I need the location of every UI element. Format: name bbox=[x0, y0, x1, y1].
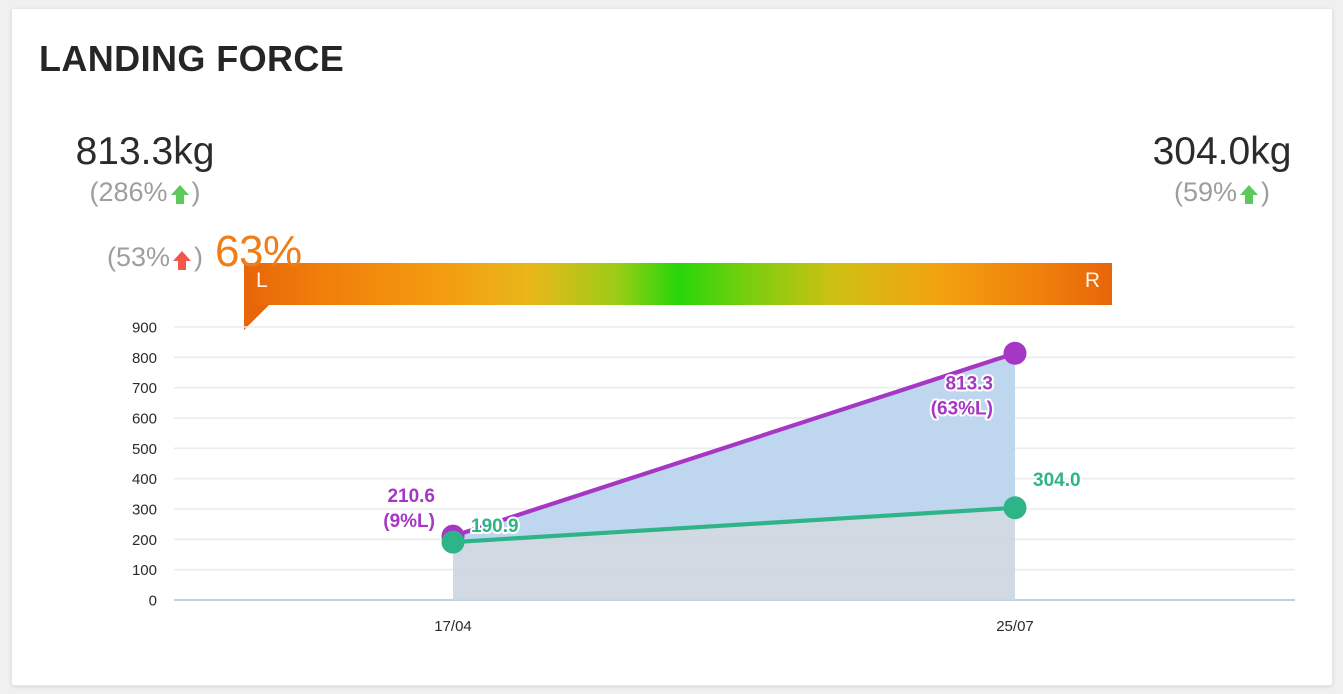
right-force-block: 304.0kg (59% ) bbox=[1127, 129, 1317, 209]
svg-text:800: 800 bbox=[132, 350, 157, 367]
svg-text:190.9: 190.9 bbox=[471, 516, 519, 537]
arrow-up-icon bbox=[1238, 183, 1260, 206]
svg-text:(63%L): (63%L) bbox=[931, 398, 993, 419]
balance-gradient bbox=[244, 263, 1112, 305]
svg-text:900: 900 bbox=[132, 320, 157, 337]
svg-text:100: 100 bbox=[132, 562, 157, 579]
right-force-value: 304.0kg bbox=[1127, 129, 1317, 175]
arrow-up-icon bbox=[169, 183, 191, 206]
landing-force-card: LANDING FORCE 813.3kg (286% ) L R 304.0k… bbox=[11, 8, 1333, 686]
center-delta: (53% ) bbox=[107, 242, 203, 273]
svg-text:813.3: 813.3 bbox=[945, 373, 993, 394]
x-axis-ticks: 17/0425/07 bbox=[434, 618, 1034, 635]
chart-svg: 0100200300400500600700800900 17/0425/07 … bbox=[12, 304, 1334, 644]
right-delta-text: (59% bbox=[1174, 175, 1237, 209]
svg-text:600: 600 bbox=[132, 411, 157, 428]
svg-text:300: 300 bbox=[132, 502, 157, 519]
center-delta-close: ) bbox=[194, 242, 203, 273]
left-force-block: 813.3kg (286% ) bbox=[50, 129, 240, 209]
arrow-up-icon bbox=[171, 249, 193, 272]
svg-text:(9%L): (9%L) bbox=[383, 511, 435, 532]
svg-text:700: 700 bbox=[132, 380, 157, 397]
lr-balance-bar[interactable]: L R bbox=[244, 263, 1112, 305]
svg-text:210.6: 210.6 bbox=[387, 486, 435, 507]
force-timeline-chart[interactable]: 0100200300400500600700800900 17/0425/07 … bbox=[12, 304, 1334, 644]
svg-text:200: 200 bbox=[132, 532, 157, 549]
left-delta-close: ) bbox=[192, 175, 201, 209]
left-force-delta: (286% ) bbox=[50, 175, 240, 209]
y-axis-ticks: 0100200300400500600700800900 bbox=[132, 320, 157, 610]
right-delta-close: ) bbox=[1261, 175, 1270, 209]
svg-text:25/07: 25/07 bbox=[996, 618, 1034, 635]
left-delta-text: (286% bbox=[89, 175, 167, 209]
center-balance-block: (53% ) 63% bbox=[107, 227, 302, 277]
svg-text:400: 400 bbox=[132, 471, 157, 488]
page-title: LANDING FORCE bbox=[39, 38, 344, 80]
svg-text:17/04: 17/04 bbox=[434, 618, 472, 635]
center-balance-percent: 63% bbox=[215, 227, 302, 277]
right-force-delta: (59% ) bbox=[1127, 175, 1317, 209]
svg-text:500: 500 bbox=[132, 441, 157, 458]
balance-summary: 813.3kg (286% ) L R 304.0kg (59% bbox=[12, 129, 1332, 219]
bar-label-right: R bbox=[1085, 269, 1100, 293]
svg-text:0: 0 bbox=[149, 593, 157, 610]
left-force-value: 813.3kg bbox=[50, 129, 240, 175]
center-delta-text: (53% bbox=[107, 242, 170, 273]
chart-fills bbox=[453, 353, 1015, 600]
svg-text:304.0: 304.0 bbox=[1033, 470, 1081, 491]
